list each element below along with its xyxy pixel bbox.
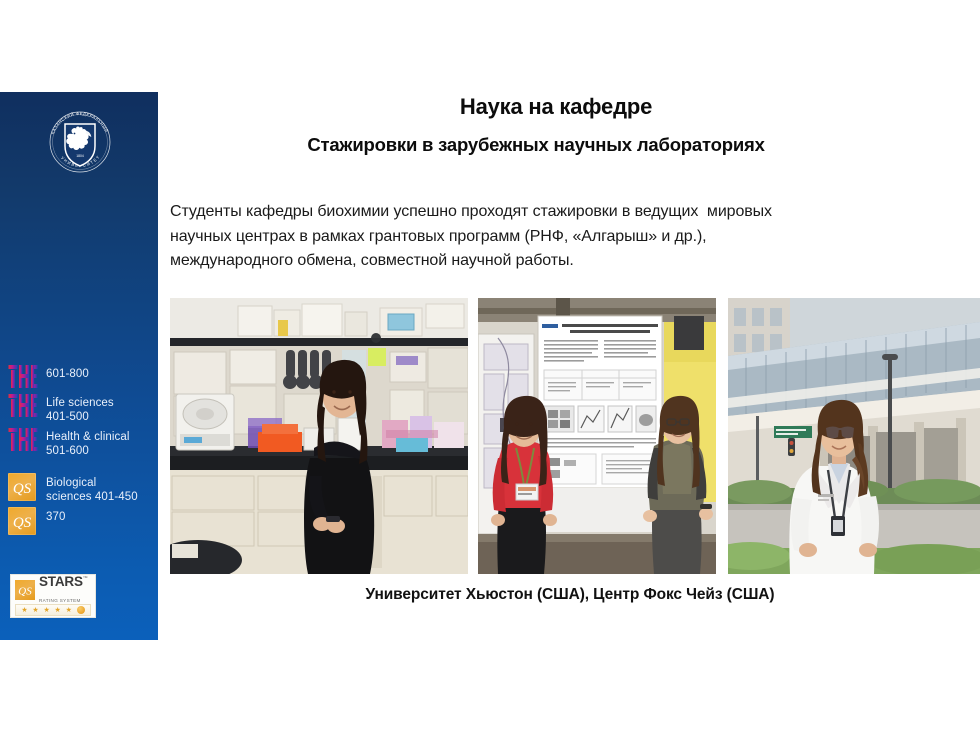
ranking-text: Life sciences 401-500 <box>46 393 114 424</box>
photo-strip <box>170 298 980 574</box>
slide-body-text: Студенты кафедры биохимии успешно проход… <box>170 200 946 274</box>
slide-canvas: КАЗАНСКИЙ ФЕДЕРАЛЬНЫЙ УНИВЕРСИТЕТ 1804 <box>0 0 980 735</box>
emblem-year: 1804 <box>76 154 84 158</box>
the-logo-icon <box>8 427 38 453</box>
svg-text:QS: QS <box>18 586 32 598</box>
slide-content: Наука на кафедре Стажировки в зарубежных… <box>158 92 980 640</box>
slide-title: Наука на кафедре <box>158 94 954 120</box>
photo-medical-center-exterior <box>728 298 980 574</box>
the-logo-icon <box>8 393 38 419</box>
svg-text:QS: QS <box>13 481 32 497</box>
ranking-text: Biological sciences 401-450 <box>46 473 138 504</box>
ranking-row: QS Biological sciences 401-450 <box>8 473 158 504</box>
brand-rail: КАЗАНСКИЙ ФЕДЕРАЛЬНЫЙ УНИВЕРСИТЕТ 1804 <box>0 92 158 640</box>
photo-laboratory-portrait <box>170 298 468 574</box>
rankings-spacer <box>8 461 158 473</box>
rankings-list: 601-800 <box>8 364 158 538</box>
star-icon: ★ <box>32 607 38 614</box>
ranking-row: 601-800 <box>8 364 158 390</box>
qs-logo-icon: QS <box>8 473 36 501</box>
slide-subtitle: Стажировки в зарубежных научных лаборато… <box>158 134 914 156</box>
ranking-text: 370 <box>46 507 66 524</box>
photo-caption: Университет Хьюстон (США), Центр Фокс Че… <box>170 586 970 604</box>
qs-stars-subtitle: RATING SYSTEM <box>39 598 81 603</box>
qs-stars-title: STARS <box>39 575 83 589</box>
body-line: научных центрах в рамках грантовых прогр… <box>170 225 946 250</box>
body-line: Студенты кафедры биохимии успешно проход… <box>170 200 946 225</box>
the-logo-icon <box>8 364 38 390</box>
trademark-symbol: ™ <box>83 576 88 582</box>
qs-stars-header: QS STARS™ RATING SYSTEM <box>15 579 91 601</box>
qs-logo-icon: QS <box>15 580 35 600</box>
qs-stars-wordmark: STARS™ RATING SYSTEM <box>39 574 91 606</box>
body-line: международного обмена, совместной научно… <box>170 249 946 274</box>
qs-stars-seal-icon <box>77 606 85 614</box>
university-emblem: КАЗАНСКИЙ ФЕДЕРАЛЬНЫЙ УНИВЕРСИТЕТ 1804 <box>44 102 116 178</box>
star-icon: ★ <box>55 607 61 614</box>
star-icon: ★ <box>66 607 72 614</box>
svg-text:QS: QS <box>13 515 32 531</box>
ranking-text: Health & clinical 501-600 <box>46 427 130 458</box>
qs-logo-icon: QS <box>8 507 36 535</box>
star-icon: ★ <box>43 607 49 614</box>
star-icon: ★ <box>21 607 27 614</box>
ranking-row: Life sciences 401-500 <box>8 393 158 424</box>
ranking-text: 601-800 <box>46 364 89 381</box>
ranking-row: QS 370 <box>8 507 158 535</box>
ranking-row: Health & clinical 501-600 <box>8 427 158 458</box>
qs-stars-badge: QS STARS™ RATING SYSTEM ★ ★ ★ ★ ★ <box>10 574 96 618</box>
photo-conference-poster <box>478 298 716 574</box>
